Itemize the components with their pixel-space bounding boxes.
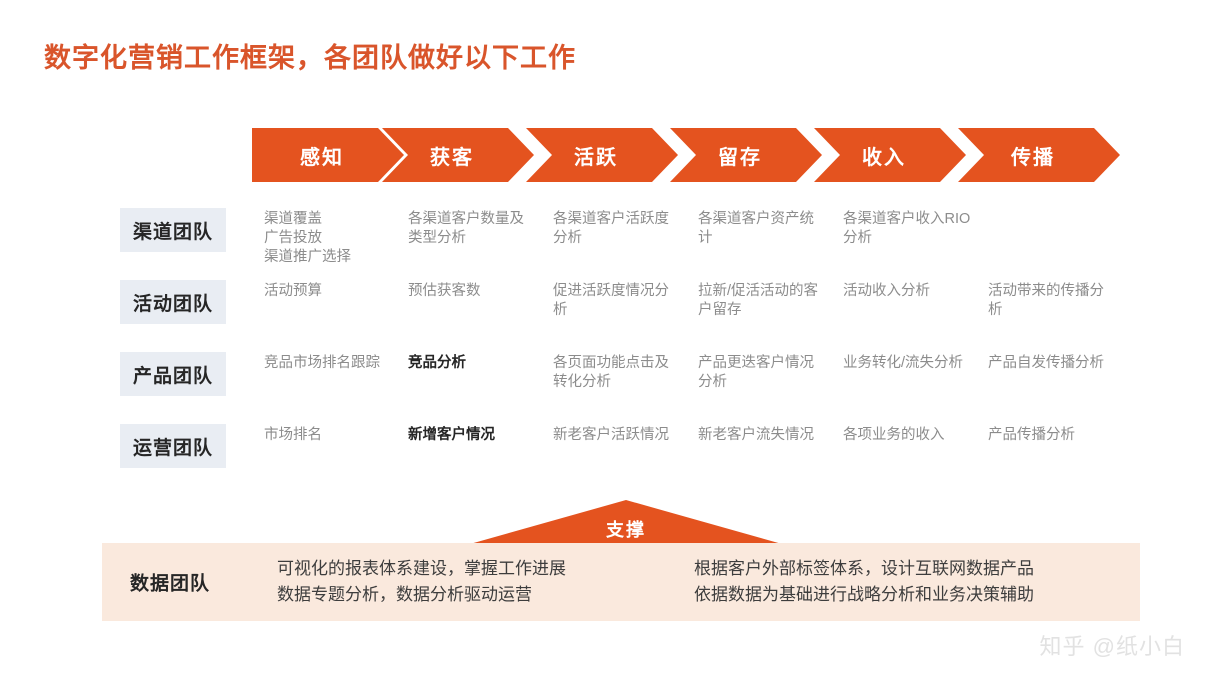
matrix-cell: 活动预算	[264, 282, 394, 301]
data-team-line: 根据客户外部标签体系，设计互联网数据产品	[694, 556, 1034, 582]
matrix-cell: 各页面功能点击及转化分析	[553, 354, 683, 392]
stage-chevron-0[interactable]: 感知	[252, 128, 404, 182]
matrix-cell: 产品更迭客户情况分析	[698, 354, 828, 392]
stage-label: 留存	[718, 141, 762, 170]
stage-label: 收入	[862, 141, 906, 170]
stage-label: 活跃	[574, 141, 618, 170]
matrix-cell: 各渠道客户数量及类型分析	[408, 210, 538, 248]
matrix-cell: 新老客户活跃情况	[553, 426, 683, 445]
stage-label: 传播	[1011, 141, 1055, 170]
matrix-cell: 各项业务的收入	[843, 426, 973, 445]
stage-chevron-3[interactable]: 留存	[670, 128, 822, 182]
stage-chevron-1[interactable]: 获客	[382, 128, 534, 182]
stage-label: 获客	[430, 141, 474, 170]
stage-chevron-5[interactable]: 传播	[958, 128, 1120, 182]
data-team-responsibilities-left: 可视化的报表体系建设，掌握工作进展 数据专题分析，数据分析驱动运营	[277, 556, 566, 608]
matrix-cell: 竞品分析	[408, 354, 538, 373]
matrix-cell: 活动收入分析	[843, 282, 973, 301]
data-team-line: 数据专题分析，数据分析驱动运营	[277, 582, 566, 608]
matrix-row: 产品团队 竞品市场排名跟踪 竞品分析 各页面功能点击及转化分析 产品更迭客户情况…	[0, 344, 1213, 416]
data-team-line: 依据数据为基础进行战略分析和业务决策辅助	[694, 582, 1034, 608]
matrix-cell: 各渠道客户活跃度分析	[553, 210, 683, 248]
matrix-cell: 各渠道客户资产统计	[698, 210, 828, 248]
matrix-cell: 促进活跃度情况分析	[553, 282, 683, 320]
matrix-row: 运营团队 市场排名 新增客户情况 新老客户活跃情况 新老客户流失情况 各项业务的…	[0, 416, 1213, 488]
matrix-row: 活动团队 活动预算 预估获客数 促进活跃度情况分析 拉新/促活活动的客户留存 活…	[0, 272, 1213, 344]
page-title: 数字化营销工作框架，各团队做好以下工作	[44, 36, 576, 75]
stage-banner: 感知 获客 活跃 留存 收入 传播	[252, 128, 1120, 182]
watermark: 知乎 @纸小白	[1040, 629, 1185, 661]
matrix-cell: 预估获客数	[408, 282, 538, 301]
matrix-cell: 各渠道客户收入RIO分析	[843, 210, 973, 248]
support-arrow: 支撑	[470, 500, 782, 544]
team-stage-matrix: 渠道团队 渠道覆盖广告投放渠道推广选择 各渠道客户数量及类型分析 各渠道客户活跃…	[0, 200, 1213, 488]
data-team-responsibilities-right: 根据客户外部标签体系，设计互联网数据产品 依据数据为基础进行战略分析和业务决策辅…	[694, 556, 1034, 608]
team-label-campaign: 活动团队	[120, 280, 226, 324]
matrix-cell: 竞品市场排名跟踪	[264, 354, 394, 373]
stage-chevron-4[interactable]: 收入	[814, 128, 966, 182]
matrix-cell: 业务转化/流失分析	[843, 354, 973, 373]
data-team-bar: 数据团队 可视化的报表体系建设，掌握工作进展 数据专题分析，数据分析驱动运营 根…	[102, 543, 1140, 621]
matrix-cell: 产品传播分析	[988, 426, 1118, 445]
team-label-data: 数据团队	[130, 569, 210, 596]
matrix-row: 渠道团队 渠道覆盖广告投放渠道推广选择 各渠道客户数量及类型分析 各渠道客户活跃…	[0, 200, 1213, 272]
support-label: 支撑	[470, 516, 782, 542]
matrix-cell: 渠道覆盖广告投放渠道推广选择	[264, 210, 394, 267]
stage-chevron-2[interactable]: 活跃	[526, 128, 678, 182]
data-team-line: 可视化的报表体系建设，掌握工作进展	[277, 556, 566, 582]
matrix-cell: 产品自发传播分析	[988, 354, 1118, 373]
team-label-product: 产品团队	[120, 352, 226, 396]
stage-label: 感知	[300, 141, 344, 170]
matrix-cell: 市场排名	[264, 426, 394, 445]
matrix-cell: 新增客户情况	[408, 426, 538, 445]
team-label-operations: 运营团队	[120, 424, 226, 468]
matrix-cell: 新老客户流失情况	[698, 426, 828, 445]
matrix-cell: 拉新/促活活动的客户留存	[698, 282, 828, 320]
team-label-channel: 渠道团队	[120, 208, 226, 252]
matrix-cell: 活动带来的传播分析	[988, 282, 1118, 320]
